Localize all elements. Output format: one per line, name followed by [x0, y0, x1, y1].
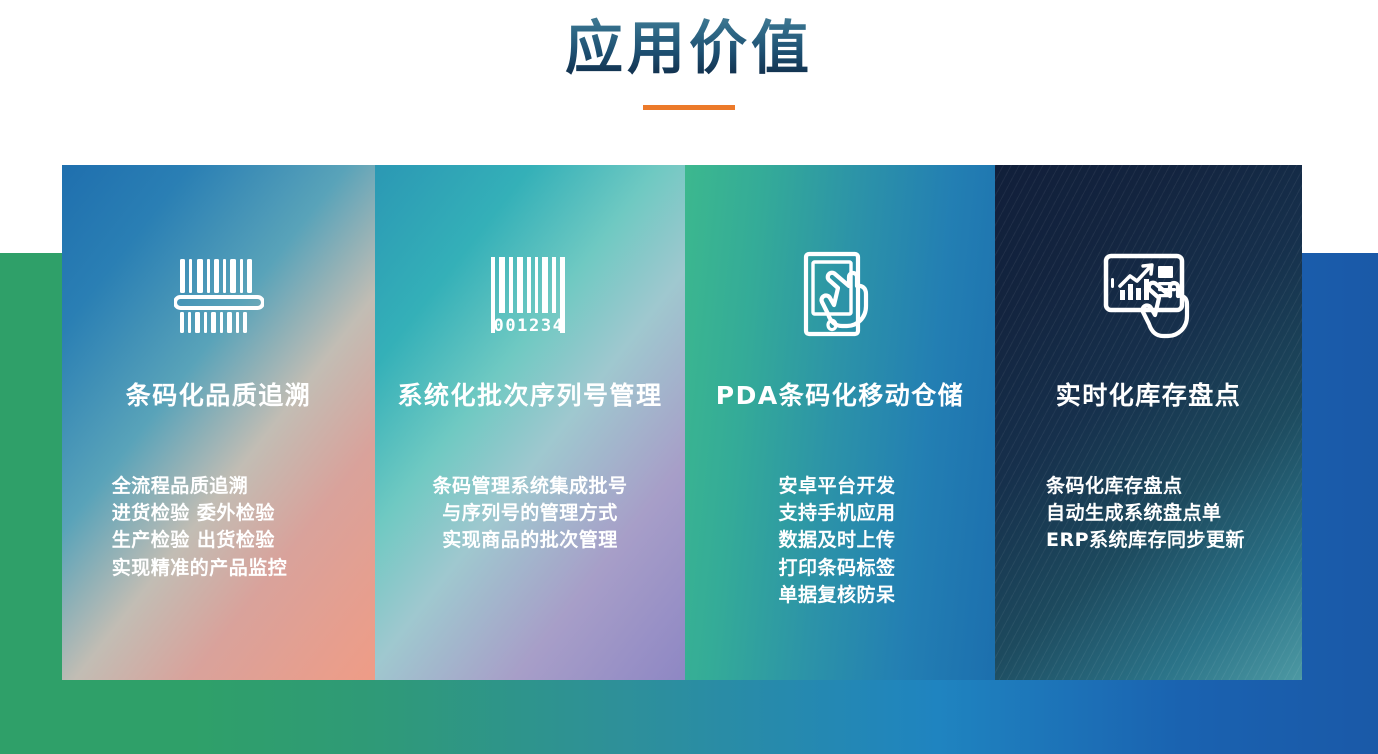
card-line: 条码化库存盘点 [1046, 473, 1245, 500]
page-title: 应用价值 [565, 12, 813, 85]
page-header: 应用价值 [0, 0, 1378, 150]
card-title: 系统化批次序列号管理 [397, 380, 662, 413]
barcode-number: 001234 [493, 316, 564, 336]
card-pda-mobile-warehouse[interactable]: PDA条码化移动仓储 安卓平台开发 支持手机应用 数据及时上传 打印条码标签 单… [685, 165, 995, 680]
title-underline-rule [643, 105, 735, 110]
card-body: 全流程品质追溯 进货检验 委外检验 生产检验 出货检验 实现精准的产品监控 [112, 473, 288, 582]
card-line: 安卓平台开发 [778, 473, 895, 500]
card-batch-serial-management[interactable]: 001234 系统化批次序列号管理 条码管理系统集成批号 与序列号的管理方式 实… [375, 165, 685, 680]
card-line: 自动生成系统盘点单 [1046, 500, 1245, 527]
card-line: 与序列号的管理方式 [432, 500, 627, 527]
card-body: 安卓平台开发 支持手机应用 数据及时上传 打印条码标签 单据复核防呆 [778, 473, 895, 610]
card-body: 条码管理系统集成批号 与序列号的管理方式 实现商品的批次管理 [432, 473, 627, 555]
card-line: ERP系统库存同步更新 [1046, 527, 1245, 554]
card-line: 进货检验 委外检验 [112, 500, 288, 527]
card-title: 条码化品质追溯 [126, 380, 312, 413]
card-line: 实现精准的产品监控 [112, 555, 288, 582]
card-line: 单据复核防呆 [778, 582, 895, 609]
card-line: 条码管理系统集成批号 [432, 473, 627, 500]
card-title: 实时化库存盘点 [1056, 380, 1242, 413]
card-barcode-quality-trace[interactable]: 条码化品质追溯 全流程品质追溯 进货检验 委外检验 生产检验 出货检验 实现精准… [62, 165, 375, 680]
barcode-label-icon: 001234 [488, 243, 572, 348]
card-line: 打印条码标签 [778, 555, 895, 582]
card-line: 数据及时上传 [778, 527, 895, 554]
card-body: 条码化库存盘点 自动生成系统盘点单 ERP系统库存同步更新 [1046, 473, 1245, 555]
card-line: 生产检验 出货检验 [112, 527, 288, 554]
card-title: PDA条码化移动仓储 [716, 380, 964, 413]
barcode-scanner-icon [174, 243, 264, 348]
card-line: 支持手机应用 [778, 500, 895, 527]
card-line: 实现商品的批次管理 [432, 527, 627, 554]
tablet-touch-hand-icon [800, 243, 880, 348]
card-realtime-inventory-count[interactable]: 实时化库存盘点 条码化库存盘点 自动生成系统盘点单 ERP系统库存同步更新 [995, 165, 1302, 680]
tablet-chart-hand-icon [1102, 243, 1196, 348]
value-cards-row: 条码化品质追溯 全流程品质追溯 进货检验 委外检验 生产检验 出货检验 实现精准… [62, 165, 1302, 680]
card-line: 全流程品质追溯 [112, 473, 288, 500]
